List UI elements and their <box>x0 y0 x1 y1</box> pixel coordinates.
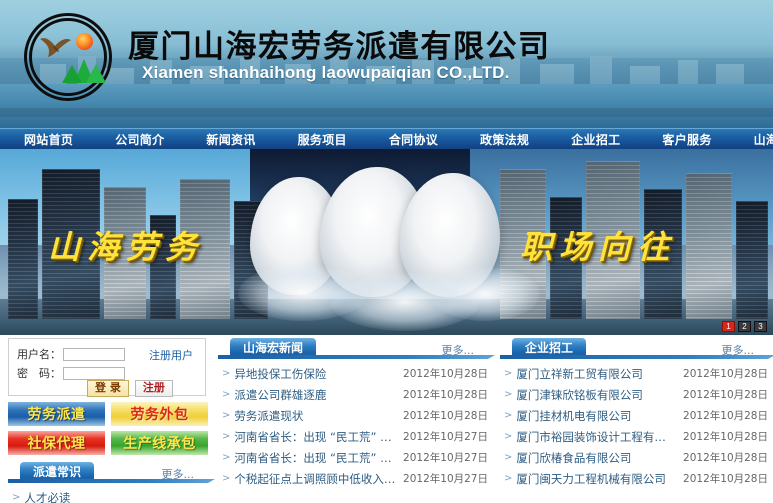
password-input[interactable] <box>63 367 125 380</box>
news-item-date: 2012年10月28日 <box>397 408 488 423</box>
recruit-item-title: 厦门闽天力工程机械有限公司 <box>516 471 677 487</box>
username-input[interactable] <box>63 348 125 361</box>
nav-family[interactable]: 山海宏之家 <box>752 131 773 148</box>
page-title: 厦门山海宏劳务派遣有限公司 <box>128 21 551 66</box>
nav-customer-service[interactable]: 客户服务 <box>660 131 713 148</box>
header-shoreline <box>0 108 773 117</box>
knowledge-panel-header: 派遣常识 更多... <box>8 462 208 483</box>
username-row: 用户名： <box>17 346 125 362</box>
recruit-item-date: 2012年10月28日 <box>677 387 768 402</box>
recruit-item-date: 2012年10月28日 <box>677 429 768 444</box>
password-row: 密 码： <box>17 365 125 381</box>
recruit-panel-header: 企业招工 更多... <box>500 338 768 359</box>
password-label: 密 码： <box>17 365 61 381</box>
nav-contracts[interactable]: 合同协议 <box>387 131 440 148</box>
left-column: 用户名： 密 码： 注册用户 登 录 注册 劳务派遣 劳务外包 社保代理 生产线… <box>8 338 208 503</box>
table-row[interactable]: > 河南省省长：出现 “民工荒” 是一件好事 2012年10月27日 <box>218 426 488 447</box>
knowledge-panel: 派遣常识 更多... > 人才必读 <box>8 462 208 503</box>
sun-icon <box>76 33 93 50</box>
nav-services[interactable]: 服务项目 <box>296 131 349 148</box>
recruit-panel-rule <box>500 355 768 359</box>
table-row[interactable]: > 异地投保工伤保险 2012年10月28日 <box>218 363 488 384</box>
bullet-arrow-icon: > <box>222 389 230 400</box>
login-buttons: 登 录 注册 <box>87 380 173 397</box>
water-splash <box>430 267 540 321</box>
knowledge-item-title: 人才必读 <box>24 490 208 503</box>
bullet-arrow-icon: > <box>222 473 230 484</box>
carousel-dot-1[interactable]: 1 <box>722 321 735 332</box>
register-user-link[interactable]: 注册用户 <box>149 347 193 363</box>
service-buttons: 劳务派遣 劳务外包 社保代理 生产线承包 <box>8 402 208 455</box>
nav-policy[interactable]: 政策法规 <box>478 131 531 148</box>
recruit-item-title: 厦门立祥新工贸有限公司 <box>516 366 677 382</box>
news-item-title: 个税起征点上调照顾中低收入者待遇 <box>234 471 397 487</box>
news-panel: 山海宏新闻 更多... > 异地投保工伤保险 2012年10月28日 > 派遣公… <box>218 338 488 489</box>
register-button[interactable]: 注册 <box>135 380 173 397</box>
carousel-dot-3[interactable]: 3 <box>754 321 767 332</box>
recruit-item-title: 厦门挂材机电有限公司 <box>516 408 677 424</box>
bullet-arrow-icon: > <box>504 368 512 379</box>
table-row[interactable]: > 劳务派遣现状 2012年10月28日 <box>218 405 488 426</box>
carousel-dot-2[interactable]: 2 <box>738 321 751 332</box>
bullet-arrow-icon: > <box>222 410 230 421</box>
recruit-item-date: 2012年10月28日 <box>677 366 768 381</box>
login-button[interactable]: 登 录 <box>87 380 129 397</box>
news-panel-rule <box>218 355 488 359</box>
carousel-pagination: 1 2 3 <box>722 321 767 332</box>
bullet-arrow-icon: > <box>504 452 512 463</box>
table-row[interactable]: > 厦门欣椿食品有限公司 2012年10月28日 <box>500 447 768 468</box>
recruit-item-title: 厦门欣椿食品有限公司 <box>516 450 677 466</box>
table-row[interactable]: > 厦门市裕园装饰设计工程有限公司 2012年10月28日 <box>500 426 768 447</box>
news-item-date: 2012年10月28日 <box>397 387 488 402</box>
list-item[interactable]: > 人才必读 <box>8 487 208 503</box>
table-row[interactable]: > 厦门闽天力工程机械有限公司 2012年10月28日 <box>500 468 768 489</box>
service-outsourcing-button[interactable]: 劳务外包 <box>111 402 208 426</box>
bullet-arrow-icon: > <box>504 389 512 400</box>
main-navigation: 网站首页 公司简介 新闻资讯 服务项目 合同协议 政策法规 企业招工 客户服务 … <box>0 128 773 149</box>
recruit-item-title: 厦门市裕园装饰设计工程有限公司 <box>516 429 677 445</box>
bullet-arrow-icon: > <box>222 368 230 379</box>
nav-about[interactable]: 公司简介 <box>113 131 166 148</box>
recruit-item-date: 2012年10月28日 <box>677 408 768 423</box>
recruit-list: > 厦门立祥新工贸有限公司 2012年10月28日 > 厦门津铼欣铭板有限公司 … <box>500 363 768 489</box>
nav-news[interactable]: 新闻资讯 <box>204 131 257 148</box>
knowledge-list: > 人才必读 <box>8 487 208 503</box>
news-item-title: 派遣公司群雄逐鹿 <box>234 387 397 403</box>
company-subtitle: Xiamen shanhaihong laowupaiqian CO.,LTD. <box>142 63 510 83</box>
page-root: 厦门山海宏劳务派遣有限公司 Xiamen shanhaihong laowupa… <box>0 0 773 503</box>
eagle-icon <box>38 35 72 61</box>
news-item-title: 异地投保工伤保险 <box>234 366 397 382</box>
site-header: 厦门山海宏劳务派遣有限公司 Xiamen shanhaihong laowupa… <box>0 0 773 128</box>
banner-headline-left: 山海劳务 <box>48 222 204 268</box>
nav-home[interactable]: 网站首页 <box>22 131 75 148</box>
recruit-item-date: 2012年10月28日 <box>677 450 768 465</box>
news-item-title: 河南省省长：出现 “民工荒” 是一件好事 <box>234 429 397 445</box>
news-item-date: 2012年10月28日 <box>397 366 488 381</box>
bullet-arrow-icon: > <box>12 492 20 503</box>
table-row[interactable]: > 河南省省长：出现 “民工荒” 是一件好事 2012年10月27日 <box>218 447 488 468</box>
recruit-item-date: 2012年10月28日 <box>677 471 768 486</box>
service-dispatch-button[interactable]: 劳务派遣 <box>8 402 105 426</box>
company-logo[interactable] <box>24 13 116 105</box>
bullet-arrow-icon: > <box>222 431 230 442</box>
content-area: 用户名： 密 码： 注册用户 登 录 注册 劳务派遣 劳务外包 社保代理 生产线… <box>0 335 773 503</box>
username-label: 用户名： <box>17 346 61 362</box>
service-production-line-button[interactable]: 生产线承包 <box>111 431 208 455</box>
knowledge-panel-rule <box>8 479 208 483</box>
news-item-date: 2012年10月27日 <box>397 450 488 465</box>
table-row[interactable]: > 厦门挂材机电有限公司 2012年10月28日 <box>500 405 768 426</box>
service-insurance-agent-button[interactable]: 社保代理 <box>8 431 105 455</box>
bullet-arrow-icon: > <box>504 473 512 484</box>
news-item-date: 2012年10月27日 <box>397 429 488 444</box>
news-item-title: 河南省省长：出现 “民工荒” 是一件好事 <box>234 450 397 466</box>
bullet-arrow-icon: > <box>504 410 512 421</box>
bullet-arrow-icon: > <box>504 431 512 442</box>
banner-headline-right: 职场向往 <box>520 222 676 268</box>
bullet-arrow-icon: > <box>222 452 230 463</box>
table-row[interactable]: > 个税起征点上调照顾中低收入者待遇 2012年10月27日 <box>218 468 488 489</box>
news-item-date: 2012年10月27日 <box>397 471 488 486</box>
table-row[interactable]: > 派遣公司群雄逐鹿 2012年10月28日 <box>218 384 488 405</box>
table-row[interactable]: > 厦门立祥新工贸有限公司 2012年10月28日 <box>500 363 768 384</box>
news-item-title: 劳务派遣现状 <box>234 408 397 424</box>
news-panel-header: 山海宏新闻 更多... <box>218 338 488 359</box>
recruit-panel: 企业招工 更多... > 厦门立祥新工贸有限公司 2012年10月28日 > 厦… <box>500 338 768 489</box>
nav-recruit[interactable]: 企业招工 <box>569 131 622 148</box>
login-form: 用户名： 密 码： 注册用户 登 录 注册 <box>8 338 206 396</box>
recruit-item-title: 厦门津铼欣铭板有限公司 <box>516 387 677 403</box>
news-list: > 异地投保工伤保险 2012年10月28日 > 派遣公司群雄逐鹿 2012年1… <box>218 363 488 489</box>
table-row[interactable]: > 厦门津铼欣铭板有限公司 2012年10月28日 <box>500 384 768 405</box>
